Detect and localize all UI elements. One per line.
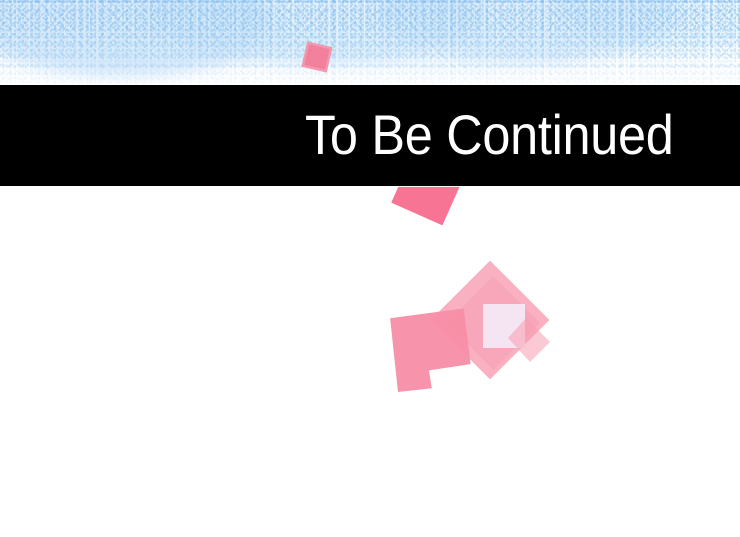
sky-blob-3 [380, 0, 680, 62]
to-be-continued-label: To Be Continued [305, 102, 674, 167]
falling-square-top [303, 43, 343, 83]
sky-blob-6 [300, 10, 600, 68]
sky-blob-1 [0, 0, 270, 76]
letterbox-hairline-top [0, 84, 740, 85]
letterbox-hairline-bottom [0, 186, 740, 187]
sky-speckle-coarse [0, 0, 740, 92]
to-be-continued-bar: To Be Continued [0, 85, 740, 186]
sky-blob-4 [560, 0, 740, 52]
sky-blob-5 [60, 4, 300, 64]
watercolor-sky-wash [0, 0, 740, 92]
falling-block-cluster [380, 258, 570, 403]
comic-panel: To Be Continued [0, 0, 740, 537]
sky-speckle-fine [0, 0, 740, 92]
falling-l-tetromino [390, 308, 472, 392]
to-be-continued-text: To Be Continued [264, 102, 674, 167]
